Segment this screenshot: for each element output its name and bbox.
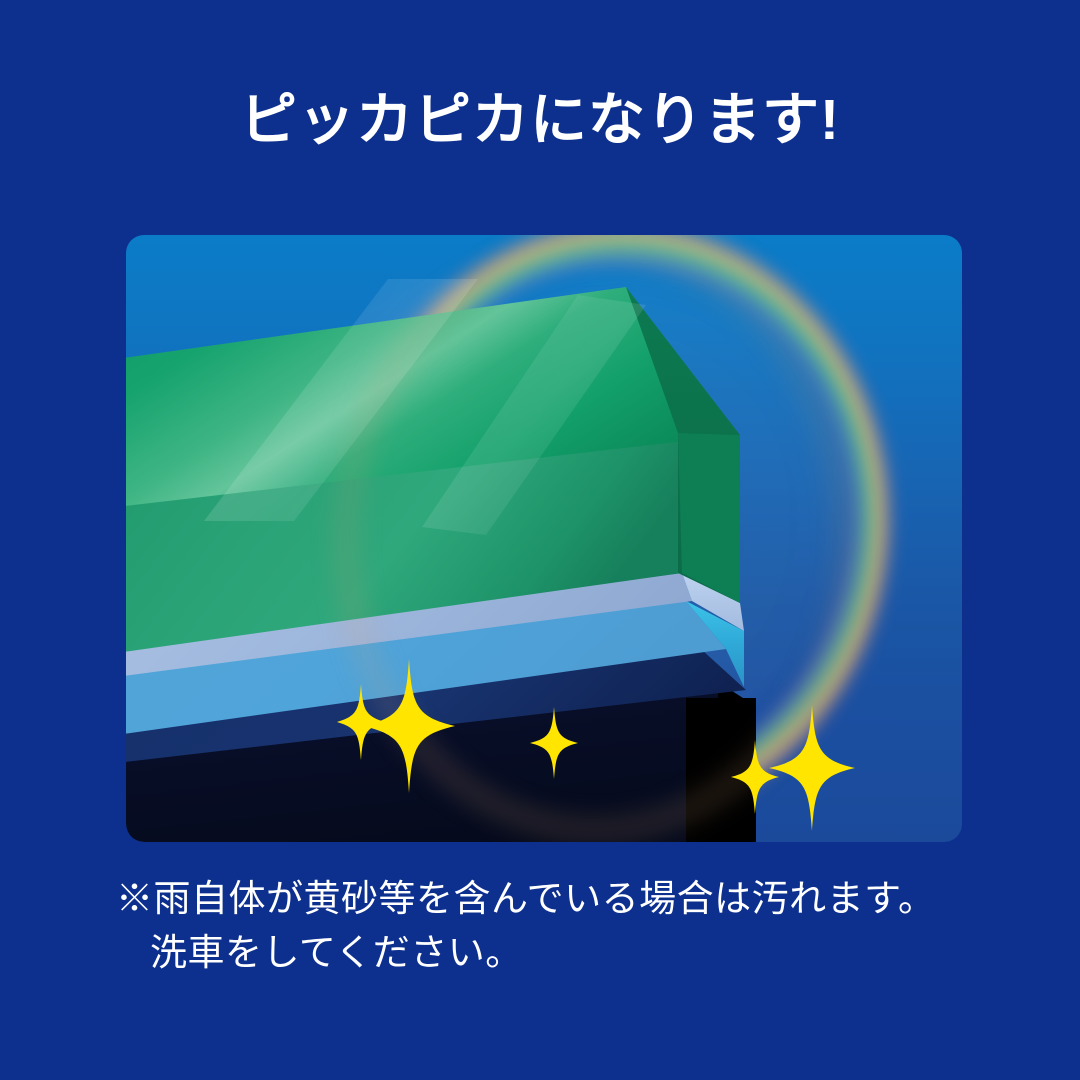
poster-root: ピッカピカになります! <box>0 0 1080 1080</box>
sparkle-large-left <box>363 659 455 793</box>
illustration-card: 塗装面 <box>126 235 962 842</box>
sparkle-large-right <box>769 705 855 831</box>
footnote: ※雨自体が黄砂等を含んでいる場合は汚れます。 洗車をしてください。 <box>116 872 996 979</box>
page-title: ピッカピカになります! <box>0 88 1080 154</box>
footnote-line-2: 洗車をしてください。 <box>116 926 996 980</box>
footnote-line-1: ※雨自体が黄砂等を含んでいる場合は汚れます。 <box>116 878 935 919</box>
sparkle-mid-center <box>530 707 578 779</box>
